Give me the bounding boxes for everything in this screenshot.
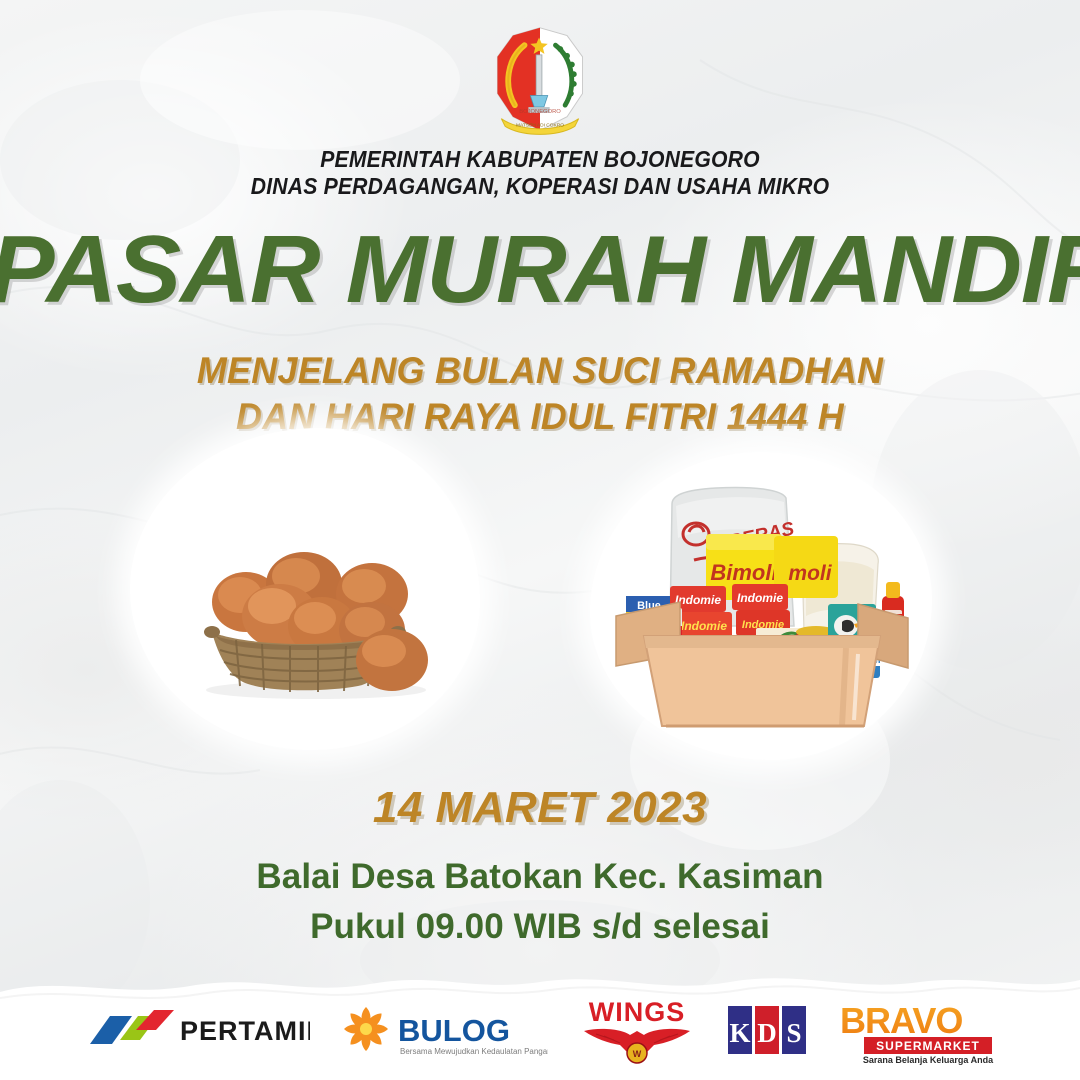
poster-canvas: BOJONEGORO MATSEH ADI COKRO PEMERINTAH K… [0,0,1080,1080]
svg-text:Indomie: Indomie [675,593,721,607]
svg-text:MATSEH ADI COKRO: MATSEH ADI COKRO [516,122,564,128]
sponsor-wings[interactable]: WINGS W [574,995,700,1067]
subtitle-line-2: DAN HARI RAYA IDUL FITRI 1444 H [16,394,1064,440]
sponsor-bravo[interactable]: BRAVO SUPERMARKET Sarana Belanja Keluarg… [836,997,1000,1065]
svg-text:Indomie: Indomie [681,619,727,633]
event-subtitle: MENJELANG BULAN SUCI RAMADHAN DAN HARI R… [16,348,1064,440]
subtitle-line-1: MENJELANG BULAN SUCI RAMADHAN [16,348,1064,394]
venue-time: Pukul 09.00 WIB s/d selesai [0,902,1080,952]
government-line-1: PEMERINTAH KABUPATEN BOJONEGORO [43,146,1037,173]
svg-text:Bimoli: Bimoli [710,560,778,585]
sponsor-logos: PERTAMINA [0,988,1080,1074]
bojonegoro-emblem-icon: BOJONEGORO MATSEH ADI COKRO [482,22,598,138]
svg-text:BULOG: BULOG [398,1013,510,1048]
event-date: 14 MARET 2023 [0,786,1080,830]
page-title: PASAR MURAH MANDIRI [0,222,1080,318]
svg-text:moli: moli [788,562,832,585]
svg-text:Indomie: Indomie [737,591,783,605]
grocery-box-photo: BERAS S Bimoli moli Blue [606,476,918,748]
sponsor-kds[interactable]: K D S [726,1000,810,1062]
svg-text:S: S [786,1018,801,1048]
eggs-in-basket-photo [176,540,442,700]
government-line-2: DINAS PERDAGANGAN, KOPERASI DAN USAHA MI… [43,173,1037,200]
svg-text:PERTAMINA: PERTAMINA [180,1016,310,1046]
bulog-tagline: Bersama Mewujudkan Kedaulatan Pangan [400,1047,548,1056]
svg-text:W: W [633,1049,642,1059]
bravo-subtitle: SUPERMARKET [876,1039,980,1053]
event-venue: Balai Desa Batokan Kec. Kasiman Pukul 09… [0,852,1080,951]
bravo-tagline: Sarana Belanja Keluarga Anda [863,1055,994,1065]
government-header: PEMERINTAH KABUPATEN BOJONEGORO DINAS PE… [0,146,1080,199]
svg-text:BOJONEGORO: BOJONEGORO [519,109,561,115]
svg-text:D: D [757,1018,777,1048]
svg-text:WINGS: WINGS [589,997,686,1027]
sponsor-bulog[interactable]: BULOG Bersama Mewujudkan Kedaulatan Pang… [336,999,548,1063]
sponsor-pertamina[interactable]: PERTAMINA [80,1000,310,1062]
venue-location: Balai Desa Batokan Kec. Kasiman [0,852,1080,902]
svg-text:BRAVO: BRAVO [840,1000,962,1041]
svg-text:K: K [729,1018,750,1048]
